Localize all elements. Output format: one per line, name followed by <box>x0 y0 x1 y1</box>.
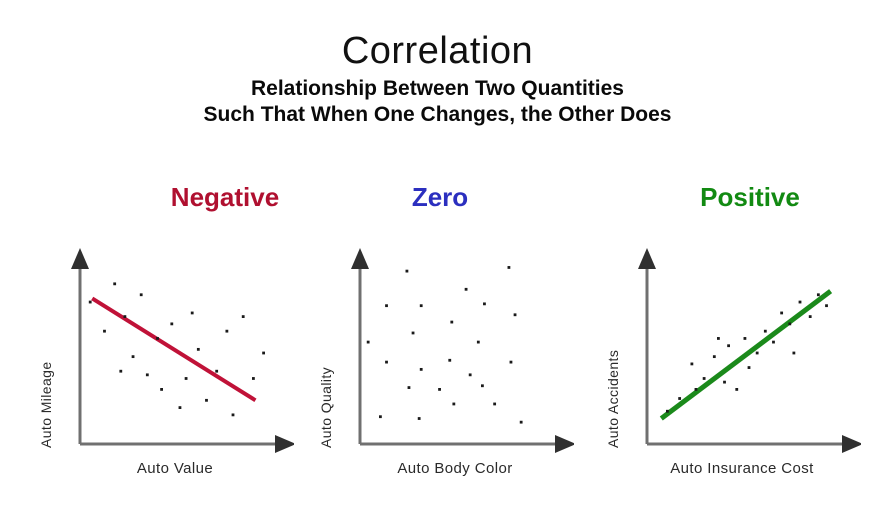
chart-positive: Auto Accidents Auto Insurance Cost <box>595 248 865 498</box>
scatter-point <box>748 366 751 369</box>
chart-negative: Auto Mileage Auto Value <box>28 248 298 498</box>
scatter-point <box>508 266 511 269</box>
scatter-point <box>452 403 455 406</box>
scatter-point <box>695 388 698 391</box>
scatter-point <box>367 341 370 344</box>
scatter-point <box>412 332 415 335</box>
scatter-point <box>170 322 173 325</box>
scatter-point <box>817 293 820 296</box>
scatter-point <box>703 377 706 380</box>
scatter-point <box>385 304 388 307</box>
correlation-infographic: Correlation Relationship Between Two Qua… <box>0 0 875 530</box>
scatter-point <box>123 315 126 318</box>
scatter-point <box>379 415 382 418</box>
x-axis-label-negative: Auto Value <box>56 460 294 477</box>
scatter-point <box>89 301 92 304</box>
subtitle-line-2: Such That When One Changes, the Other Do… <box>0 102 875 128</box>
scatter-point <box>420 368 423 371</box>
scatter-point <box>420 304 423 307</box>
scatter-point <box>764 330 767 333</box>
scatter-point <box>799 301 802 304</box>
scatter-plot-negative <box>62 248 294 470</box>
scatter-point <box>242 315 245 318</box>
scatter-point <box>825 304 828 307</box>
trend-line <box>92 298 255 400</box>
scatter-point <box>483 302 486 305</box>
page-title: Correlation <box>0 30 875 72</box>
scatter-point <box>205 399 208 402</box>
scatter-point <box>678 397 681 400</box>
scatter-plot-zero <box>342 248 574 470</box>
scatter-point <box>469 373 472 376</box>
scatter-point <box>735 388 738 391</box>
y-axis-label-positive: Auto Accidents <box>605 268 627 448</box>
scatter-point <box>477 341 480 344</box>
scatter-point <box>408 386 411 389</box>
scatter-point <box>406 270 409 273</box>
scatter-point <box>727 344 730 347</box>
scatter-point <box>809 315 812 318</box>
scatter-point <box>744 337 747 340</box>
scatter-point <box>465 288 468 291</box>
chart-zero: Auto Quality Auto Body Color <box>308 248 578 498</box>
scatter-point <box>666 410 669 413</box>
scatter-point <box>514 313 517 316</box>
y-axis-label-negative: Auto Mileage <box>38 268 60 448</box>
y-axis-label-zero: Auto Quality <box>318 268 340 448</box>
scatter-point <box>780 312 783 315</box>
x-axis-label-positive: Auto Insurance Cost <box>623 460 861 477</box>
scatter-point <box>713 355 716 358</box>
scatter-point <box>191 312 194 315</box>
scatter-point <box>113 282 116 285</box>
scatter-point <box>690 363 693 366</box>
trend-line <box>661 291 830 418</box>
scatter-point <box>132 355 135 358</box>
scatter-point <box>493 403 496 406</box>
x-axis-label-zero: Auto Body Color <box>336 460 574 477</box>
scatter-point <box>119 370 122 373</box>
heading-zero: Zero <box>355 182 525 213</box>
scatter-point <box>185 377 188 380</box>
scatter-point <box>772 341 775 344</box>
scatter-point <box>418 417 421 420</box>
heading-positive: Positive <box>635 182 865 213</box>
scatter-point <box>385 361 388 364</box>
scatter-point <box>140 293 143 296</box>
scatter-point <box>179 406 182 409</box>
scatter-point <box>481 384 484 387</box>
column-headings: Negative Zero Positive <box>0 182 875 222</box>
scatter-point <box>756 352 759 355</box>
scatter-point <box>788 322 791 325</box>
scatter-point <box>262 352 265 355</box>
scatter-point <box>450 321 453 324</box>
scatter-point <box>438 388 441 391</box>
scatter-point <box>197 348 200 351</box>
scatter-point <box>510 361 513 364</box>
scatter-point <box>717 337 720 340</box>
title-block: Correlation Relationship Between Two Qua… <box>0 0 875 128</box>
scatter-point <box>520 421 523 424</box>
scatter-point <box>792 352 795 355</box>
scatter-point <box>723 381 726 384</box>
heading-negative: Negative <box>110 182 340 213</box>
scatter-plot-positive <box>629 248 861 470</box>
scatter-point <box>156 337 159 340</box>
subtitle-line-1: Relationship Between Two Quantities <box>0 76 875 102</box>
scatter-point <box>252 377 255 380</box>
scatter-point <box>232 413 235 416</box>
scatter-point <box>225 330 228 333</box>
scatter-point <box>103 330 106 333</box>
charts-row: Auto Mileage Auto Value Auto Quality Aut… <box>0 248 875 503</box>
scatter-point <box>448 359 451 362</box>
scatter-point <box>146 373 149 376</box>
scatter-point <box>215 370 218 373</box>
scatter-point <box>160 388 163 391</box>
